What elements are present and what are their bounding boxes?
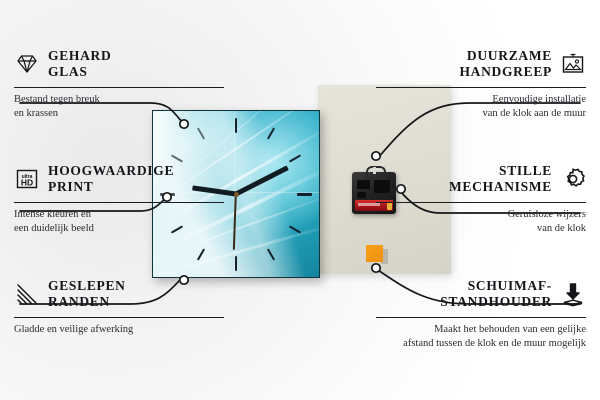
svg-text:HD: HD <box>21 178 33 188</box>
feature-description: Intense kleuren en een duidelijk beeld <box>14 208 224 236</box>
clock-tick <box>197 248 205 260</box>
feature-divider <box>14 202 224 203</box>
bevelled-edge-icon <box>14 281 40 307</box>
arrow-down-spacer-icon <box>560 281 586 307</box>
feature-header: SCHUIMAF- STANDHOUDER <box>376 278 586 311</box>
feature-header: GESLEPEN RANDEN <box>14 278 224 311</box>
feature-title: GESLEPEN RANDEN <box>48 278 126 311</box>
feature-header: ultra HD HOOGWAARDIGE PRINT <box>14 163 224 196</box>
feature-duurzame-handgreep: DUURZAME HANDGREEP Eenvoudige installati… <box>376 48 586 121</box>
movement-slot <box>357 192 366 198</box>
feature-header: STILLE MECHANISME <box>376 163 586 196</box>
feature-divider <box>14 87 224 88</box>
feature-title: HOOGWAARDIGE PRINT <box>48 163 174 196</box>
feature-title: STILLE MECHANISME <box>449 163 552 196</box>
clock-tick <box>289 154 301 162</box>
clock-tick <box>289 225 301 233</box>
feature-title: GEHARD GLAS <box>48 48 111 81</box>
clock-tick <box>267 127 275 139</box>
framed-picture-icon <box>560 51 586 77</box>
feature-header: GEHARD GLAS <box>14 48 224 81</box>
feature-divider <box>376 317 586 318</box>
feature-stille-mechanisme: STILLE MECHANISME Geruisloze wijzers van… <box>376 163 586 236</box>
ultra-hd-icon: ultra HD <box>14 166 40 192</box>
feature-gehard-glas: GEHARD GLAS Bestand tegen breuk en krass… <box>14 48 224 121</box>
clock-tick <box>297 193 312 196</box>
clock-tick <box>171 154 183 162</box>
feature-header: DUURZAME HANDGREEP <box>376 48 586 81</box>
feature-description: Gladde en veilige afwerking <box>14 323 224 337</box>
clock-center-cap <box>234 192 239 197</box>
clock-tick <box>235 118 237 133</box>
feature-divider <box>376 202 586 203</box>
foam-spacer-image <box>366 245 383 262</box>
feature-description: Geruisloze wijzers van de klok <box>376 208 586 236</box>
feature-divider <box>14 317 224 318</box>
feature-title: SCHUIMAF- STANDHOUDER <box>440 278 552 311</box>
infographic-canvas: GEHARD GLAS Bestand tegen breuk en krass… <box>0 0 600 400</box>
clock-tick <box>197 127 205 139</box>
feature-description: Maakt het behouden van een gelijke afsta… <box>376 323 586 351</box>
diamond-icon <box>14 51 40 77</box>
feature-divider <box>376 87 586 88</box>
gear-icon <box>560 166 586 192</box>
clock-tick <box>235 256 237 271</box>
feature-description: Bestand tegen breuk en krassen <box>14 93 224 121</box>
movement-slot <box>357 180 370 189</box>
feature-title: DUURZAME HANDGREEP <box>459 48 552 81</box>
clock-tick <box>267 248 275 260</box>
feature-schuimafstandhouder: SCHUIMAF- STANDHOUDER Maakt het behouden… <box>376 278 586 351</box>
feature-hoogwaardige-print: ultra HD HOOGWAARDIGE PRINT Intense kleu… <box>14 163 224 236</box>
feature-geslepen-randen: GESLEPEN RANDEN Gladde en veilige afwerk… <box>14 278 224 337</box>
feature-description: Eenvoudige installatie van de klok aan d… <box>376 93 586 121</box>
